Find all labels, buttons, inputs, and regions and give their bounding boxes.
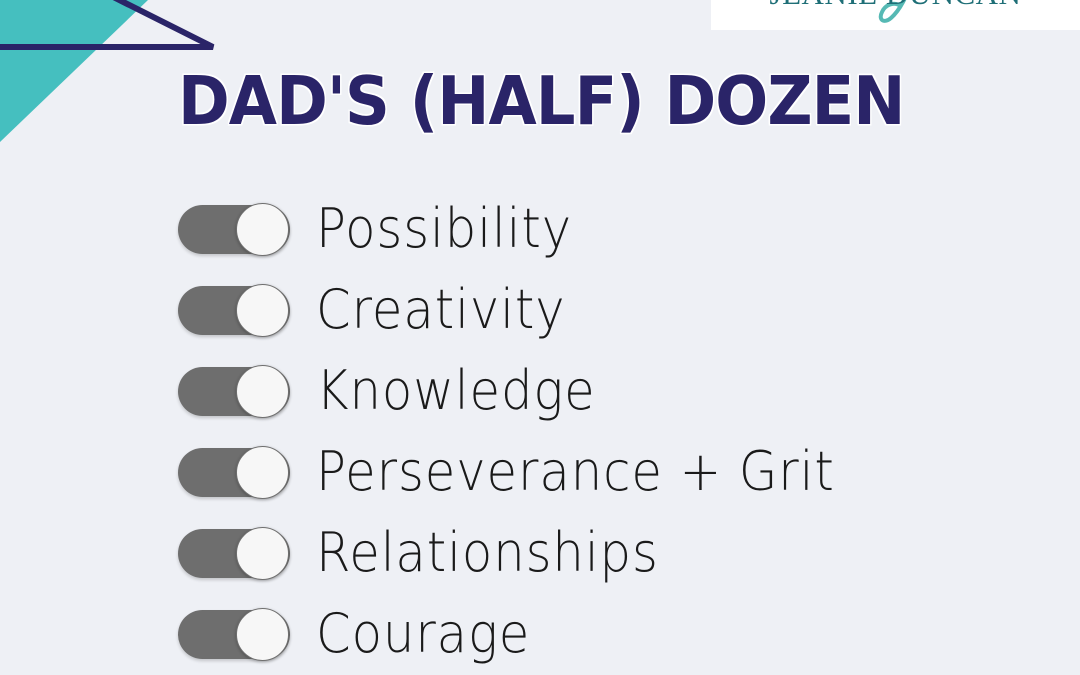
teal-triangle-icon xyxy=(0,0,148,142)
toggle-label-creativity: Creativity xyxy=(316,279,566,341)
toggle-knob-icon xyxy=(236,203,289,256)
toggle-label-relationships: Relationships xyxy=(316,522,659,584)
toggle-knob-icon xyxy=(236,527,289,580)
list-item: Perseverance + Grit xyxy=(178,441,998,522)
brand-logo: JEANIE DUNCAN xyxy=(711,0,1080,30)
page-title: DAD'S (HALF) DOZEN xyxy=(178,64,866,138)
toggle-switch-knowledge[interactable] xyxy=(178,367,290,416)
list-item: Knowledge xyxy=(178,360,998,441)
logo-wordmark: JEANIE DUNCAN xyxy=(711,0,1080,14)
list-item: Creativity xyxy=(178,279,998,360)
toggle-label-perseverance-grit: Perseverance + Grit xyxy=(316,441,835,503)
list-item: Courage xyxy=(178,603,998,675)
toggle-switch-relationships[interactable] xyxy=(178,529,290,578)
toggle-label-knowledge: Knowledge xyxy=(316,360,596,422)
toggle-knob-icon xyxy=(236,446,289,499)
navy-outline-triangle-icon xyxy=(0,0,213,47)
list-item: Possibility xyxy=(178,198,998,279)
toggle-knob-icon xyxy=(236,284,289,337)
list-item: Relationships xyxy=(178,522,998,603)
toggle-switch-courage[interactable] xyxy=(178,610,290,659)
toggle-knob-icon xyxy=(236,365,289,418)
toggle-list: Possibility Creativity Knowledge Perseve… xyxy=(178,198,998,675)
slide-canvas: JEANIE DUNCAN DAD'S (HALF) DOZEN Possibi… xyxy=(0,0,1080,675)
toggle-label-courage: Courage xyxy=(316,603,530,665)
toggle-switch-perseverance-grit[interactable] xyxy=(178,448,290,497)
brand-logo-inner: JEANIE DUNCAN xyxy=(711,0,1080,30)
toggle-switch-possibility[interactable] xyxy=(178,205,290,254)
toggle-knob-icon xyxy=(236,608,289,661)
toggle-label-possibility: Possibility xyxy=(316,198,572,260)
toggle-switch-creativity[interactable] xyxy=(178,286,290,335)
